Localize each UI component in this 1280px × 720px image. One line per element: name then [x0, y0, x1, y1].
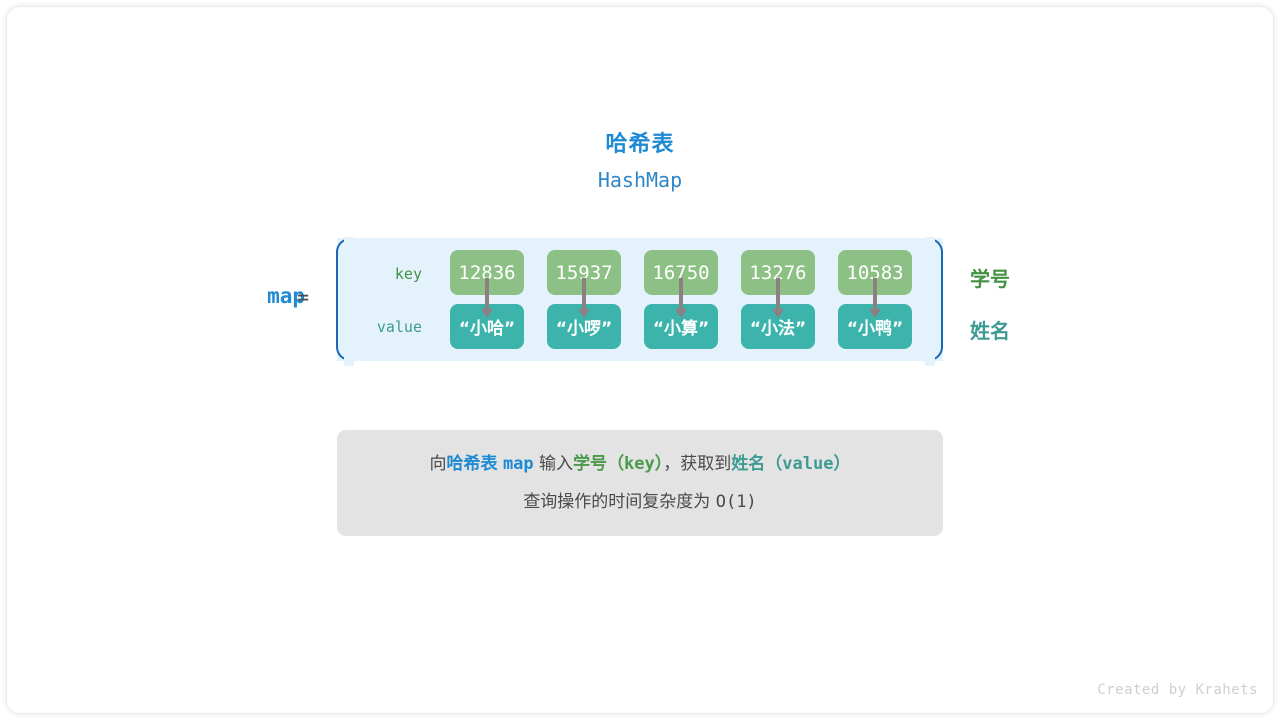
row-label-key: key	[352, 265, 422, 283]
bucket-pair: 13276 “小法”	[741, 250, 815, 349]
down-arrow-icon	[679, 278, 683, 310]
down-arrow-icon	[873, 278, 877, 310]
page-subtitle: HashMap	[0, 164, 1280, 196]
caption-line-2: 查询操作的时间复杂度为 O(1)	[523, 483, 756, 521]
row-label-value: value	[352, 318, 422, 336]
down-arrow-icon	[776, 278, 780, 310]
caption-line-1: 向哈希表 map 输入学号（key），获取到姓名（value）	[430, 445, 851, 483]
diagram-canvas: 哈希表 HashMap map = key value 12836 “小哈” 1…	[0, 0, 1280, 720]
caption-key-paren: （key）	[607, 454, 663, 474]
side-label-student-id: 学号	[970, 263, 1010, 292]
down-arrow-icon	[485, 278, 489, 310]
caption-text-3: ，获取到	[663, 454, 731, 474]
equals-sign: =	[297, 285, 309, 309]
caption-key-cn: 学号	[573, 454, 607, 474]
bracket-left-icon	[336, 238, 352, 361]
caption-complexity-text: 查询操作的时间复杂度为	[523, 492, 715, 512]
caption-hashmap-cn: 哈希表	[447, 454, 498, 474]
watermark: Created by Krahets	[1097, 682, 1258, 698]
bracket-right-icon	[927, 238, 943, 361]
bucket-pair: 15937 “小啰”	[547, 250, 621, 349]
down-arrow-icon	[582, 278, 586, 310]
caption-text-2: 输入	[534, 454, 573, 474]
variable-name-label: map	[195, 284, 305, 308]
page-title: 哈希表	[0, 130, 1280, 160]
caption-box: 向哈希表 map 输入学号（key），获取到姓名（value） 查询操作的时间复…	[337, 430, 943, 536]
bucket-pair: 16750 “小算”	[644, 250, 718, 349]
caption-map-var: map	[503, 454, 534, 474]
caption-text-1: 向	[430, 454, 447, 474]
caption-value-paren: （value）	[765, 454, 850, 474]
side-label-name: 姓名	[970, 315, 1010, 344]
bucket-pair: 12836 “小哈”	[450, 250, 524, 349]
caption-value-cn: 姓名	[731, 454, 765, 474]
bucket-pair: 10583 “小鸭”	[838, 250, 912, 349]
caption-complexity-value: O(1)	[716, 492, 757, 512]
title-block: 哈希表 HashMap	[0, 130, 1280, 196]
